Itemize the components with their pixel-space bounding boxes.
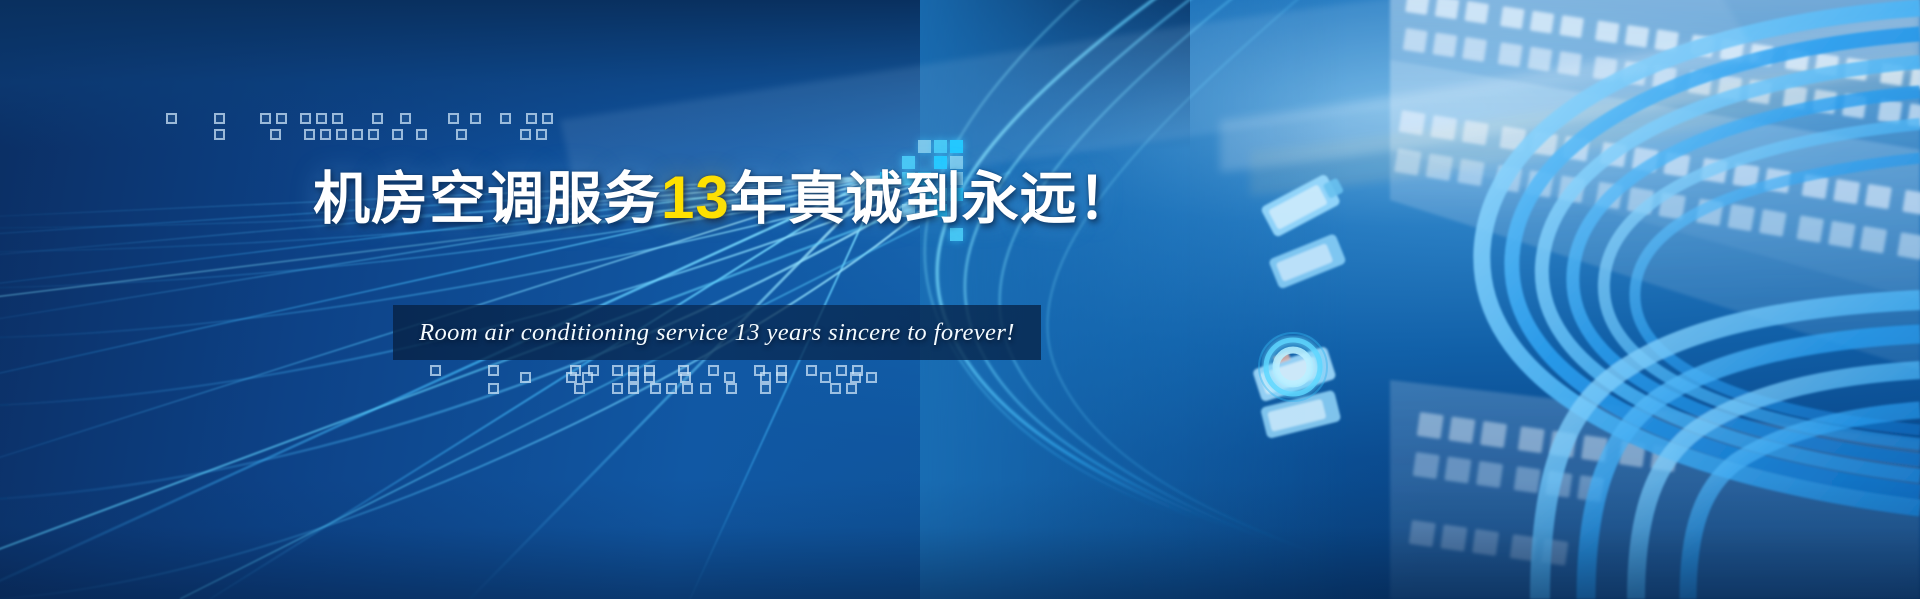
pixel-square-row-top: [160, 105, 580, 145]
hero-banner: 机房空调服务13年真诚到永远！ Room air conditioning se…: [0, 0, 1920, 599]
page-title: 机房空调服务13年真诚到永远！: [313, 168, 1093, 228]
headline-number: 13: [661, 164, 730, 231]
background-vignette: [0, 0, 1920, 599]
headline-prefix: 机房空调服务: [313, 167, 661, 231]
headline-block: 机房空调服务13年真诚到永远！: [313, 168, 1093, 228]
pixel-square-row-bottom-2: [520, 362, 900, 392]
headline-suffix: 年真诚到永远！: [730, 167, 1136, 231]
subtitle-text: Room air conditioning service 13 years s…: [393, 305, 1041, 360]
subtitle-band: Room air conditioning service 13 years s…: [393, 305, 1041, 360]
